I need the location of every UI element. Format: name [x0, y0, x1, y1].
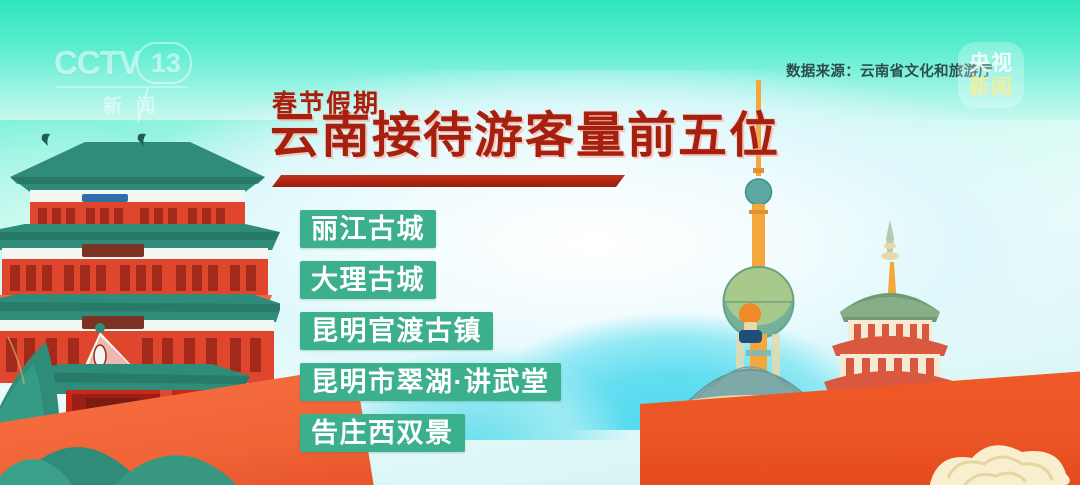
page-title: 云南接待游客量前五位 [270, 112, 780, 161]
list-item-label: 昆明市翠湖·讲武堂 [311, 369, 550, 396]
list-item[interactable]: 昆明市翠湖·讲武堂 [300, 363, 561, 401]
watermark-line-1: 央视 [969, 53, 1013, 74]
list-item[interactable]: 告庄西双景 [300, 414, 465, 452]
list-item[interactable]: 大理古城 [300, 261, 436, 299]
news-graphic-stage: CCTV 13 新闻 数据来源：云南省文化和旅游厅 央视 新闻 春节假期 云南接… [0, 0, 1080, 485]
watermark-line-2: 新闻 [969, 77, 1013, 98]
list-item-label: 丽江古城 [311, 216, 425, 243]
hills-bottom-left [0, 420, 320, 485]
list-item-label: 大理古城 [311, 267, 425, 294]
cctv-news-app-watermark: 央视 新闻 [958, 42, 1024, 108]
list-item-label: 告庄西双景 [311, 420, 454, 447]
list-item[interactable]: 昆明官渡古镇 [300, 312, 493, 350]
cctv-channel-subtitle: 新闻 [54, 91, 204, 118]
cctv-wordmark: CCTV [54, 44, 140, 82]
list-item-label: 昆明官渡古镇 [311, 318, 482, 345]
ranking-list: 丽江古城大理古城昆明官渡古镇昆明市翠湖·讲武堂告庄西双景 [300, 210, 561, 465]
cctv-channel-pill: 13 [136, 42, 192, 84]
title-underline-bar [272, 175, 625, 187]
list-item[interactable]: 丽江古城 [300, 210, 436, 248]
cctv-rule [56, 86, 188, 88]
cloud-motif-right [900, 392, 1080, 485]
cctv13-logo: CCTV 13 新闻 [54, 42, 204, 122]
cctv-channel-number: 13 [151, 48, 181, 79]
